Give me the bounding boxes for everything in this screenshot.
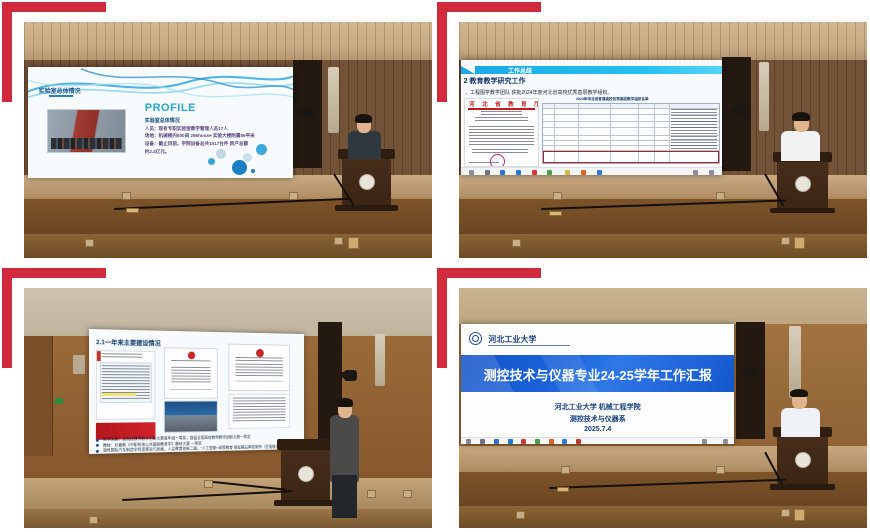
- screen-surface: 实验室总体情况 PROFILE 实验室总体情况 人员：现有专职实验室教学管理人员…: [28, 67, 293, 178]
- taskbar-icon: [469, 170, 474, 175]
- wall-speaker: [73, 355, 85, 374]
- presenter-hair: [790, 389, 808, 398]
- wall-socket: [516, 511, 525, 519]
- taskbar-icon: [521, 439, 526, 444]
- certificate-rule: [236, 380, 284, 381]
- taskbar-icon: [562, 439, 567, 444]
- taskbar-icon: [565, 170, 570, 175]
- profile-title: PROFILE: [145, 102, 196, 114]
- slide-header-band: [461, 66, 722, 74]
- floor-cable-box: [126, 208, 139, 213]
- screen-surface: 2.1一年来主要建设情况: [89, 329, 304, 454]
- ceiling-camera-icon: [303, 107, 316, 118]
- podium-emblem: [795, 176, 811, 192]
- ceiling-camera-icon: [745, 367, 758, 378]
- presenter-hair: [337, 398, 353, 407]
- presenter-legs: [332, 475, 356, 518]
- decor-bubble: [256, 144, 267, 155]
- slide-header-underline: [49, 95, 73, 97]
- slide-header-label: 实验室总体情况: [39, 86, 81, 95]
- floor-cable-box: [557, 487, 569, 492]
- wall-speaker: [759, 62, 770, 130]
- group-photo: [47, 109, 127, 153]
- decor-bubble: [251, 169, 255, 173]
- slide-work-summary: 工作总结 2 教育教学研究工作 、工程图学教学团队 获批2024年度河北省高校优…: [461, 60, 722, 176]
- taskbar-icon: [516, 170, 521, 175]
- wall-speaker: [375, 334, 385, 387]
- side-door: [24, 336, 53, 456]
- official-seal: [490, 154, 505, 167]
- wall-socket: [334, 237, 343, 245]
- presenter-hair: [792, 112, 810, 121]
- decor-bubble: [243, 153, 252, 162]
- auditorium-scene: 河北工业大学 测控技术与仪器专业24-25学年工作汇报 河北工业大学 机械工程学…: [459, 288, 867, 528]
- taskbar-icon: [532, 170, 537, 175]
- header-band-notch: [461, 66, 475, 74]
- taskbar-icon: [576, 439, 581, 444]
- presenter-hair: [355, 114, 372, 122]
- taskbar-icon: [466, 439, 471, 444]
- wall-panel: [794, 237, 805, 249]
- gov-department-title: 河 北 省 教 育 厅: [469, 100, 539, 108]
- photo-bottom-right: 河北工业大学 测控技术与仪器专业24-25学年工作汇报 河北工业大学 机械工程学…: [459, 288, 867, 528]
- floor-socket: [716, 466, 725, 474]
- podium-base: [770, 208, 835, 214]
- profile-subtitle: 实验室总体情况: [145, 117, 180, 124]
- notice-document-card: 河 北 省 教 育 厅: [464, 98, 540, 167]
- panel-heading: [102, 353, 142, 358]
- bullet-marker: [96, 438, 99, 441]
- projection-screen: 河北工业大学 测控技术与仪器专业24-25学年工作汇报 河北工业大学 机械工程学…: [461, 324, 734, 444]
- panel-notice-text: [233, 397, 285, 421]
- certificate-heading: [171, 359, 211, 363]
- photo-cell-top-right: 工作总结 2 教育教学研究工作 、工程图学教学团队 获批2024年度河北省高校优…: [435, 0, 870, 266]
- windows-taskbar: [461, 167, 722, 175]
- ceiling-camera-icon: [344, 370, 357, 381]
- photo-top-right: 工作总结 2 教育教学研究工作 、工程图学教学团队 获批2024年度河北省高校优…: [459, 22, 867, 258]
- bracket-arm-vertical: [437, 268, 447, 368]
- auditorium-scene: 实验室总体情况 PROFILE 实验室总体情况 人员：现有专职实验室教学管理人员…: [24, 22, 432, 258]
- university-logo-icon: [469, 332, 482, 345]
- ceiling-camera-icon: [734, 105, 747, 116]
- floor-socket: [289, 192, 298, 200]
- wall-speaker: [328, 67, 339, 133]
- profile-line-1: 人员：现有专职实验室教学管理人员17人: [145, 126, 228, 132]
- taskbar-icon: [508, 439, 513, 444]
- slide-achievements: 2.1一年来主要建设情况: [89, 329, 304, 454]
- projection-screen: 工作总结 2 教育教学研究工作 、工程图学教学团队 获批2024年度河北省高校优…: [461, 60, 722, 176]
- bracket-arm-vertical: [2, 268, 12, 368]
- taskbar-icon: [500, 170, 505, 175]
- taskbar-icon: [547, 170, 552, 175]
- bracket-arm-vertical: [437, 2, 447, 102]
- panel-highlight: [102, 393, 136, 396]
- wall-socket: [85, 239, 94, 247]
- floor-socket: [553, 192, 562, 200]
- presenter-body: [348, 131, 381, 159]
- photo-cell-top-left: 实验室总体情况 PROFILE 实验室总体情况 人员：现有专职实验室教学管理人员…: [0, 0, 435, 266]
- wall-panel: [794, 509, 805, 521]
- taskbar-show-desktop: [709, 170, 714, 175]
- panel-notice: [229, 393, 290, 429]
- wall-socket: [781, 509, 790, 517]
- photo-top-left: 实验室总体情况 PROFILE 实验室总体情况 人员：现有专职实验室教学管理人员…: [24, 22, 432, 258]
- projection-screen: 2.1一年来主要建设情况: [89, 329, 304, 454]
- subtitle-date: 2025.7.4: [461, 426, 734, 433]
- university-name-rule: [488, 345, 570, 346]
- ceiling: [24, 288, 432, 336]
- podium-base: [770, 484, 835, 490]
- podium-base: [335, 205, 398, 211]
- certificate-right: [229, 344, 290, 391]
- slide-profile: 实验室总体情况 PROFILE 实验室总体情况 人员：现有专职实验室教学管理人员…: [28, 67, 293, 178]
- certificate-rule: [170, 389, 212, 390]
- projection-screen: 实验室总体情况 PROFILE 实验室总体情况 人员：现有专职实验室教学管理人员…: [28, 67, 293, 178]
- auditorium-scene: 工作总结 2 教育教学研究工作 、工程图学教学团队 获批2024年度河北省高校优…: [459, 22, 867, 258]
- doc-footer-text: [469, 162, 498, 164]
- doc-title-block: [475, 117, 528, 122]
- screen-surface: 河北工业大学 测控技术与仪器专业24-25学年工作汇报 河北工业大学 机械工程学…: [461, 324, 734, 444]
- presenter-body: [330, 415, 359, 482]
- photo-bottom-left: 2.1一年来主要建设情况: [24, 288, 432, 528]
- taskbar-icon: [485, 170, 490, 175]
- profile-line-4: 约2.4亿元。: [145, 149, 170, 155]
- floor-socket: [561, 466, 570, 474]
- bracket-arm-horizontal: [437, 268, 541, 278]
- podium-base: [274, 500, 337, 506]
- certificate-middle: [164, 348, 218, 399]
- slide-title-page: 河北工业大学 测控技术与仪器专业24-25学年工作汇报 河北工业大学 机械工程学…: [461, 324, 734, 444]
- taskbar-icon: [549, 439, 554, 444]
- certificate-heading: [236, 357, 284, 361]
- photo-cell-bottom-right: 河北工业大学 测控技术与仪器专业24-25学年工作汇报 河北工业大学 机械工程学…: [435, 266, 870, 532]
- subtitle-line-1: 河北工业大学 机械工程学院: [461, 402, 734, 412]
- slide-title: 2.1一年来主要建设情况: [96, 336, 161, 347]
- wall-socket: [367, 490, 376, 498]
- decor-bubble: [216, 149, 226, 159]
- podium-emblem: [795, 452, 811, 468]
- subtitle-line-2: 测控技术与仪器系: [461, 414, 734, 424]
- certificate-body: [236, 363, 284, 377]
- floor-socket: [716, 192, 725, 200]
- bracket-arm-horizontal: [437, 2, 541, 12]
- floor-cable-box: [549, 211, 562, 216]
- decor-bubble: [208, 158, 215, 165]
- wall-panel: [348, 237, 359, 249]
- screen-surface: 工作总结 2 教育教学研究工作 、工程图学教学团队 获批2024年度河北省高校优…: [461, 60, 722, 176]
- exit-sign: [55, 398, 63, 404]
- taskbar-icon: [535, 439, 540, 444]
- wall-socket: [781, 237, 790, 245]
- decor-bubble: [232, 160, 247, 175]
- table-notes-text: [671, 109, 717, 150]
- wall-socket: [403, 490, 412, 498]
- taskbar-icon: [494, 439, 499, 444]
- taskbar-clock: [693, 170, 698, 175]
- taskbar-icon: [480, 439, 485, 444]
- photo-cell-bottom-left: 2.1一年来主要建设情况: [0, 266, 435, 532]
- profile-line-2: 场地：机械楼内500间 256house 实验大楼附属56平米: [145, 133, 255, 139]
- panel-table-screenshot: [96, 350, 155, 420]
- section-body-line: 、工程图学教学团队 获批2024年度河北省高校优秀基层教学组织。: [465, 89, 613, 96]
- taskbar-show-desktop: [723, 439, 728, 444]
- podium-emblem: [298, 466, 314, 482]
- certificate-badge: [256, 349, 264, 358]
- bracket-arm-vertical: [2, 2, 12, 102]
- group-photo-people: [51, 138, 122, 149]
- table-highlight-row: [543, 151, 719, 163]
- floor-socket: [122, 192, 131, 200]
- podium-top: [277, 439, 334, 450]
- wall-socket: [512, 239, 521, 247]
- floor-socket: [204, 480, 213, 488]
- floor-apron: [24, 509, 432, 528]
- university-name: 河北工业大学: [488, 334, 536, 345]
- bullet-marker: [96, 444, 99, 447]
- gov-title-rule: [468, 108, 536, 109]
- bracket-arm-horizontal: [2, 2, 106, 12]
- bracket-arm-horizontal: [2, 268, 106, 278]
- header-tab-text: 工作总结: [508, 66, 532, 75]
- auditorium-scene: 2.1一年来主要建设情况: [24, 288, 432, 528]
- section-title: 2 教育教学研究工作: [464, 76, 526, 86]
- doc-body-text: [469, 126, 534, 148]
- table-caption: 2024年河北省普通高校优秀基层教学组织名单: [576, 97, 649, 102]
- presenter-body: [781, 408, 820, 437]
- certificate-body: [171, 366, 211, 383]
- event-photo: [164, 401, 218, 433]
- taskbar-icon: [581, 170, 586, 175]
- certificate-badge: [188, 352, 195, 360]
- wall-speaker: [789, 326, 800, 398]
- wall-socket: [89, 516, 98, 524]
- podium-emblem: [359, 174, 375, 190]
- wall-dark-column: [736, 322, 765, 440]
- podium: [281, 439, 330, 506]
- presenter-body: [781, 131, 820, 162]
- profile-line-3: 设备：截止目前，学院设备总共1017台件 资产总额: [145, 141, 248, 147]
- windows-taskbar: [461, 437, 734, 444]
- taskbar-icon: [597, 170, 602, 175]
- doc-meta: [481, 111, 522, 115]
- collage-canvas: 实验室总体情况 PROFILE 实验室总体情况 人员：现有专职实验室教学管理人员…: [0, 0, 870, 532]
- slide-main-title: 测控技术与仪器专业24-25学年工作汇报: [461, 365, 734, 384]
- results-table: [542, 103, 720, 164]
- bullet-marker: [96, 450, 99, 453]
- taskbar-clock: [702, 439, 707, 444]
- ceiling: [459, 288, 867, 324]
